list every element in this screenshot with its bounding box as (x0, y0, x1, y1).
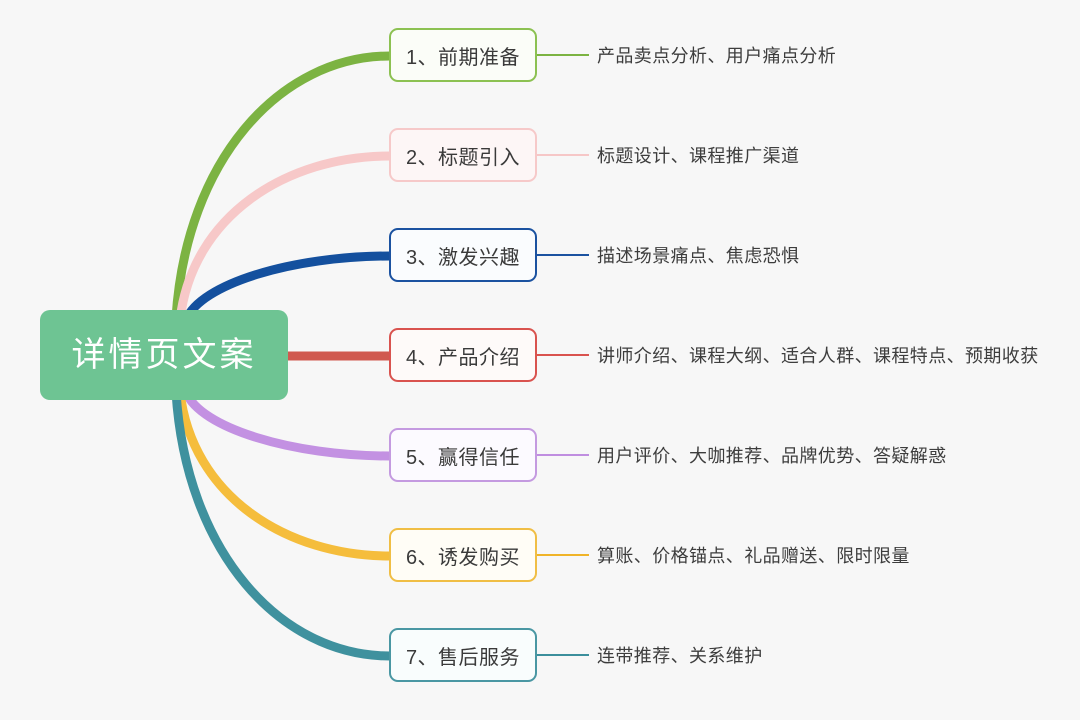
leaf-text-2: 标题设计、课程推广渠道 (589, 142, 799, 168)
trunk-curve-6 (180, 392, 390, 556)
branch-box-7[interactable]: 7、售后服务 (389, 628, 537, 682)
branch-box-4[interactable]: 4、产品介绍 (389, 328, 537, 382)
leaf-text-4: 讲师介绍、课程大纲、适合人群、课程特点、预期收获 (589, 342, 1039, 368)
trunk-curve-5 (186, 392, 390, 456)
branch-row-6: 6、诱发购买 算账、价格锚点、礼品赠送、限时限量 (389, 528, 910, 582)
trunk-curve-7 (176, 392, 390, 656)
branch-title-1: 1、前期准备 (406, 41, 520, 70)
branch-title-4: 4、产品介绍 (406, 341, 520, 370)
trunk-curve-2 (180, 156, 390, 320)
branch-title-6: 6、诱发购买 (406, 541, 520, 570)
leaf-connector-7 (537, 654, 589, 656)
leaf-text-7: 连带推荐、关系维护 (589, 642, 763, 668)
branch-title-5: 5、赢得信任 (406, 441, 520, 470)
leaf-connector-6 (537, 554, 589, 556)
branch-title-7: 7、售后服务 (406, 641, 520, 670)
branch-row-7: 7、售后服务 连带推荐、关系维护 (389, 628, 763, 682)
branch-row-4: 4、产品介绍 讲师介绍、课程大纲、适合人群、课程特点、预期收获 (389, 328, 1039, 382)
leaf-connector-1 (537, 54, 589, 56)
branch-row-1: 1、前期准备 产品卖点分析、用户痛点分析 (389, 28, 836, 82)
branch-row-2: 2、标题引入 标题设计、课程推广渠道 (389, 128, 799, 182)
central-node[interactable]: 详情页文案 (40, 310, 288, 400)
leaf-text-6: 算账、价格锚点、礼品赠送、限时限量 (589, 542, 910, 568)
leaf-connector-5 (537, 454, 589, 456)
branch-title-2: 2、标题引入 (406, 141, 520, 170)
central-node-label: 详情页文案 (72, 338, 257, 372)
leaf-text-1: 产品卖点分析、用户痛点分析 (589, 42, 836, 68)
leaf-connector-3 (537, 254, 589, 256)
mindmap-canvas: 详情页文案 1、前期准备 产品卖点分析、用户痛点分析 2、标题引入 标题设计、课… (0, 0, 1080, 720)
leaf-connector-4 (537, 354, 589, 356)
branch-title-3: 3、激发兴趣 (406, 241, 520, 270)
leaf-text-5: 用户评价、大咖推荐、品牌优势、答疑解惑 (589, 442, 947, 468)
branch-box-3[interactable]: 3、激发兴趣 (389, 228, 537, 282)
branch-box-6[interactable]: 6、诱发购买 (389, 528, 537, 582)
trunk-curve-1 (176, 56, 390, 318)
branch-row-3: 3、激发兴趣 描述场景痛点、焦虑恐惧 (389, 228, 799, 282)
branch-box-1[interactable]: 1、前期准备 (389, 28, 537, 82)
leaf-connector-2 (537, 154, 589, 156)
leaf-text-3: 描述场景痛点、焦虑恐惧 (589, 242, 799, 268)
branch-row-5: 5、赢得信任 用户评价、大咖推荐、品牌优势、答疑解惑 (389, 428, 947, 482)
branch-box-5[interactable]: 5、赢得信任 (389, 428, 537, 482)
branch-box-2[interactable]: 2、标题引入 (389, 128, 537, 182)
